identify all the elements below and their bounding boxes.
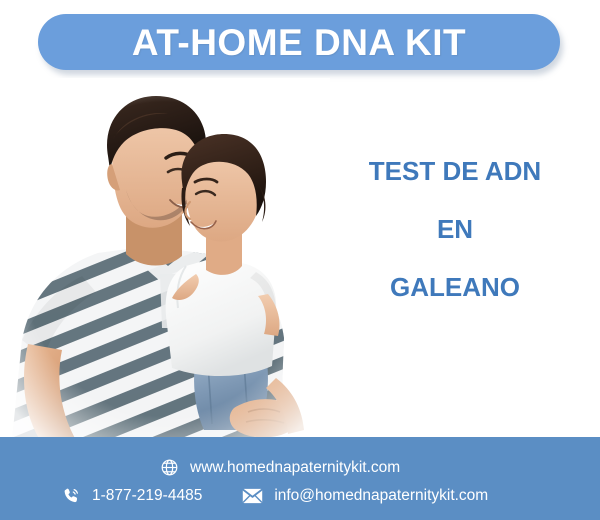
father-and-child-photo — [0, 78, 330, 440]
footer-contact-row: 1-877-219-4485 info@homednapaternitykit.… — [62, 486, 488, 505]
globe-icon — [160, 458, 179, 477]
headline-line-location: GALEANO — [330, 274, 580, 300]
phone-item[interactable]: 1-877-219-4485 — [62, 486, 202, 505]
email-item[interactable]: info@homednapaternitykit.com — [242, 488, 488, 504]
banner-title: AT-HOME DNA KIT — [132, 24, 466, 61]
banner-pill: AT-HOME DNA KIT — [38, 14, 560, 70]
phone-number: 1-877-219-4485 — [92, 488, 202, 504]
envelope-icon — [242, 488, 263, 504]
headline-block: TEST DE ADN EN GALEANO — [330, 158, 580, 300]
email-address: info@homednapaternitykit.com — [274, 488, 488, 504]
phone-icon — [62, 486, 81, 505]
footer-website-row: www.homednapaternitykit.com — [160, 458, 400, 477]
poster-canvas: AT-HOME DNA KIT — [0, 0, 600, 520]
headline-line-service: TEST DE ADN — [330, 158, 580, 184]
footer-bar — [0, 437, 600, 520]
headline-line-preposition: EN — [330, 216, 580, 242]
website-item[interactable]: www.homednapaternitykit.com — [160, 458, 400, 477]
website-url: www.homednapaternitykit.com — [190, 460, 400, 476]
